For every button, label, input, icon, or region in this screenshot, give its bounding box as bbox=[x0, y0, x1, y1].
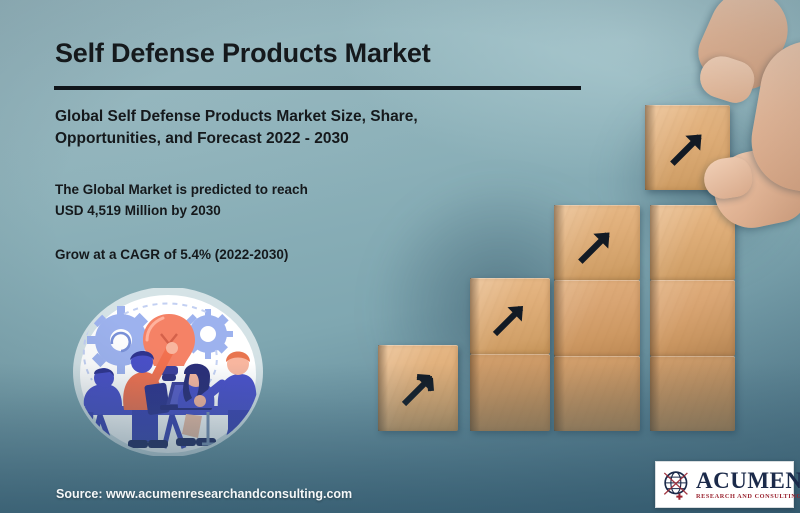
page-title: Self Defense Products Market bbox=[55, 38, 431, 69]
text-panel: Self Defense Products Market Global Self… bbox=[0, 0, 620, 513]
report-subtitle: Global Self Defense Products Market Size… bbox=[55, 106, 525, 150]
wooden-block bbox=[650, 205, 735, 280]
cagr-statement: Grow at a CAGR of 5.4% (2022-2030) bbox=[55, 247, 485, 262]
globe-icon bbox=[661, 468, 694, 501]
logo-wordmark: ACUMEN bbox=[696, 469, 800, 492]
source-attribution: Source: www.acumenresearchandconsulting.… bbox=[56, 487, 352, 501]
forecast-line-1: The Global Market is predicted to reach bbox=[55, 180, 485, 201]
forecast-line-2: USD 4,519 Million by 2030 bbox=[55, 201, 485, 222]
title-divider bbox=[54, 86, 581, 90]
acumen-logo[interactable]: ACUMEN RESEARCH AND CONSULTING bbox=[655, 461, 794, 508]
logo-tagline: RESEARCH AND CONSULTING bbox=[696, 494, 800, 501]
market-forecast-statement: The Global Market is predicted to reach … bbox=[55, 180, 485, 222]
infographic-canvas: Self Defense Products Market Global Self… bbox=[0, 0, 800, 513]
logo-text-block: ACUMEN RESEARCH AND CONSULTING bbox=[694, 469, 800, 501]
wooden-block bbox=[650, 280, 735, 356]
